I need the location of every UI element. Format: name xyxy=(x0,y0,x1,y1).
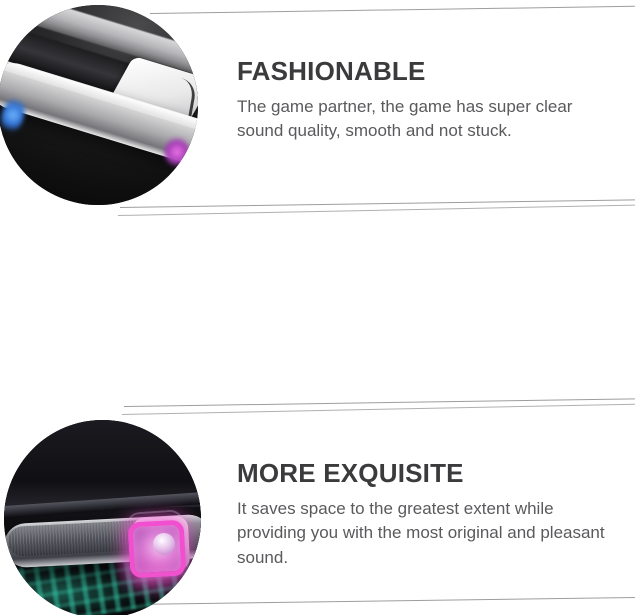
feature-block-1: FASHIONABLE The game partner, the game h… xyxy=(0,0,640,208)
pink-rgb-glow xyxy=(164,137,190,167)
feature-text-1: FASHIONABLE The game partner, the game h… xyxy=(237,58,607,144)
feature-title-1: FASHIONABLE xyxy=(237,58,607,85)
feature-description-1: The game partner, the game has super cle… xyxy=(237,95,607,143)
infographic-page: FASHIONABLE The game partner, the game h… xyxy=(0,0,640,615)
feature-block-2: MORE EXQUISITE It saves space to the gre… xyxy=(0,208,640,413)
feature-image-1 xyxy=(0,5,198,205)
feature-block-3: HIGH-QUALITY Practical and portable, spe… xyxy=(0,413,640,615)
